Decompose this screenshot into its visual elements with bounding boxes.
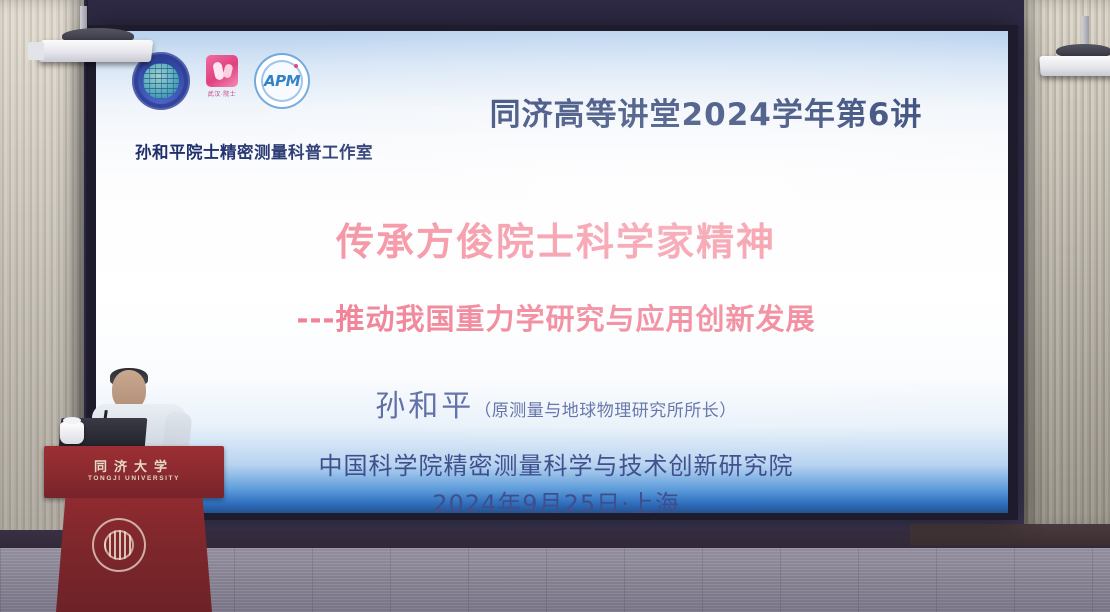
apm-logo-text: APM <box>264 72 300 90</box>
slide-subtitle: ---推动我国重力学研究与应用创新发展 <box>141 296 971 338</box>
projector-body <box>39 40 153 62</box>
wall-baseboard-right <box>910 524 1110 546</box>
speaker-name: 孙和平 <box>375 389 474 424</box>
projection-screen-frame: 武汉·院士 APM 孙和平院士精密测量科普工作室 同济高等讲堂2024学年第6讲… <box>88 25 1018 520</box>
slide-header: 同济高等讲堂2024学年第6讲 <box>426 89 986 134</box>
lectern-podium: 同济大学 TONGJI UNIVERSITY <box>44 446 224 612</box>
wuhan-mark-icon <box>206 55 238 87</box>
seal-inner-emblem <box>104 530 134 560</box>
slide-title: 传承方俊院士科学家精神 <box>156 211 956 266</box>
speaker-affiliation: （原测量与地球物理研究所所长） <box>474 401 737 421</box>
apm-logo-icon: APM <box>254 53 310 109</box>
projector-bracket <box>28 42 44 60</box>
wuhan-logo-caption: 武汉·院士 <box>208 89 237 98</box>
slide-institution: 中国科学院精密测量科学与技术创新研究院 <box>141 446 971 481</box>
ceiling-projector-right <box>1034 16 1110 86</box>
podium-name-en: TONGJI UNIVERSITY <box>44 475 224 482</box>
white-teacup <box>60 422 84 444</box>
podium-name-cn: 同济大学 <box>44 456 224 475</box>
slide-speaker-line: 孙和平（原测量与地球物理研究所所长） <box>156 381 956 425</box>
slide-logo-row: 武汉·院士 APM <box>114 43 432 119</box>
studio-name: 孙和平院士精密测量科普工作室 <box>104 139 404 163</box>
lecture-hall-scene: 武汉·院士 APM 孙和平院士精密测量科普工作室 同济高等讲堂2024学年第6讲… <box>0 0 1110 612</box>
podium-top-panel: 同济大学 TONGJI UNIVERSITY <box>44 446 224 498</box>
tongji-university-seal-icon <box>92 518 146 572</box>
ceiling-projector-left <box>22 6 152 66</box>
projector-body <box>1039 56 1110 76</box>
slide-date-location: 2024年9月25日·上海 <box>141 484 971 513</box>
wuhan-academician-logo-icon: 武汉·院士 <box>202 55 242 107</box>
presentation-slide: 武汉·院士 APM 孙和平院士精密测量科普工作室 同济高等讲堂2024学年第6讲… <box>96 31 1008 513</box>
